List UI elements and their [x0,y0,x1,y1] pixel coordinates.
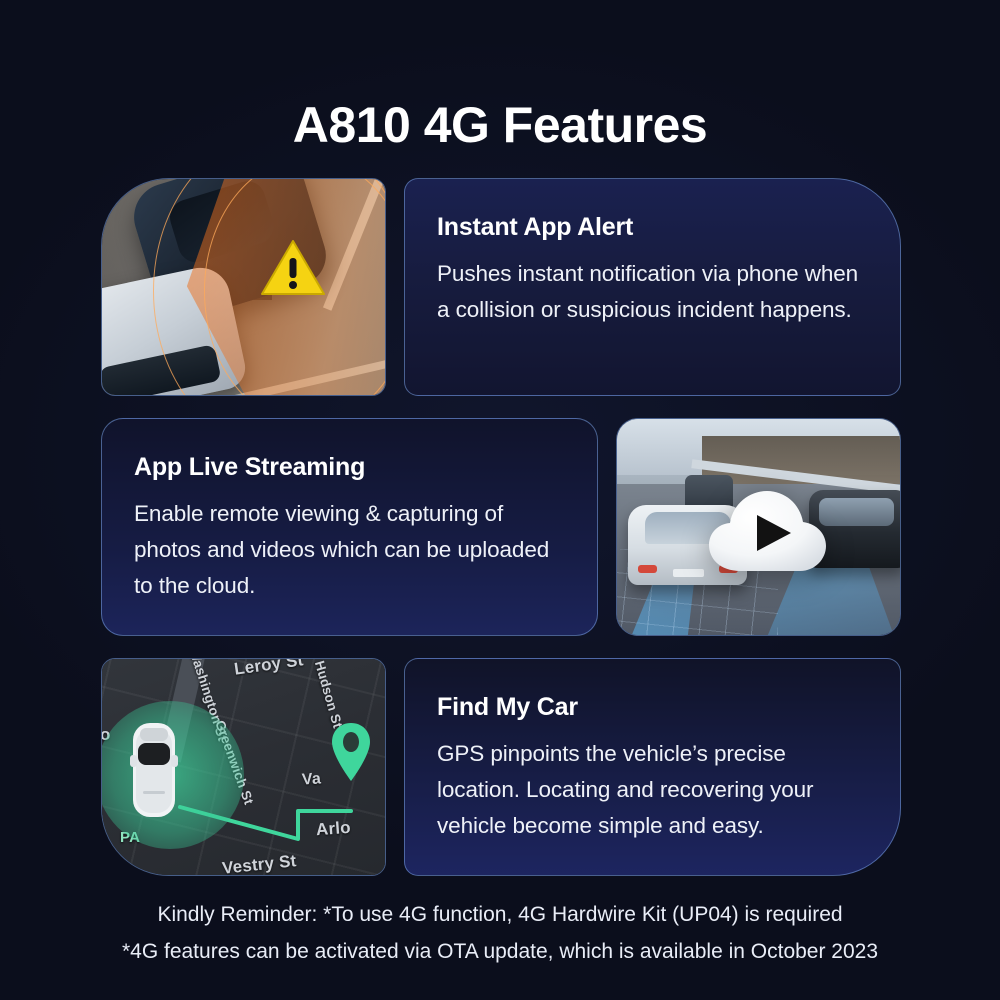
footer-line-1: Kindly Reminder: *To use 4G function, 4G… [0,896,1000,933]
feature-card-app-live-streaming[interactable]: App Live Streaming Enable remote viewing… [101,418,598,636]
feature-body: Enable remote viewing & capturing of pho… [134,496,563,604]
warning-triangle-icon [260,239,326,297]
footer-line-2: *4G features can be activated via OTA up… [0,933,1000,970]
feature-image-map[interactable]: Leroy St Washington St Greenwich St Huds… [101,658,386,876]
suv-window [819,498,894,526]
feature-card-instant-app-alert[interactable]: Instant App Alert Pushes instant notific… [404,178,901,396]
taillight [638,565,657,572]
feature-image-collision[interactable] [101,178,386,396]
feature-title: Instant App Alert [437,213,866,242]
highway-live-stream-photo [617,419,900,635]
map-pin-icon [330,721,372,783]
footer-disclaimer: Kindly Reminder: *To use 4G function, 4G… [0,896,1000,970]
feature-title: App Live Streaming [134,453,563,482]
feature-card-find-my-car[interactable]: Find My Car GPS pinpoints the vehicle’s … [404,658,901,876]
feature-body: Pushes instant notification via phone wh… [437,256,866,328]
page-title: A810 4G Features [0,96,1000,154]
cloud-play-icon[interactable] [705,479,830,579]
feature-body: GPS pinpoints the vehicle’s precise loca… [437,736,866,844]
license-plate [673,569,704,578]
feature-page: A810 4G Features Instant App Alert P [0,0,1000,1000]
collision-detection-photo [102,179,385,395]
vehicle-top-view-icon [130,721,178,819]
feature-image-streaming[interactable] [616,418,901,636]
gps-map-photo: Leroy St Washington St Greenwich St Huds… [102,659,385,875]
feature-title: Find My Car [437,693,866,722]
